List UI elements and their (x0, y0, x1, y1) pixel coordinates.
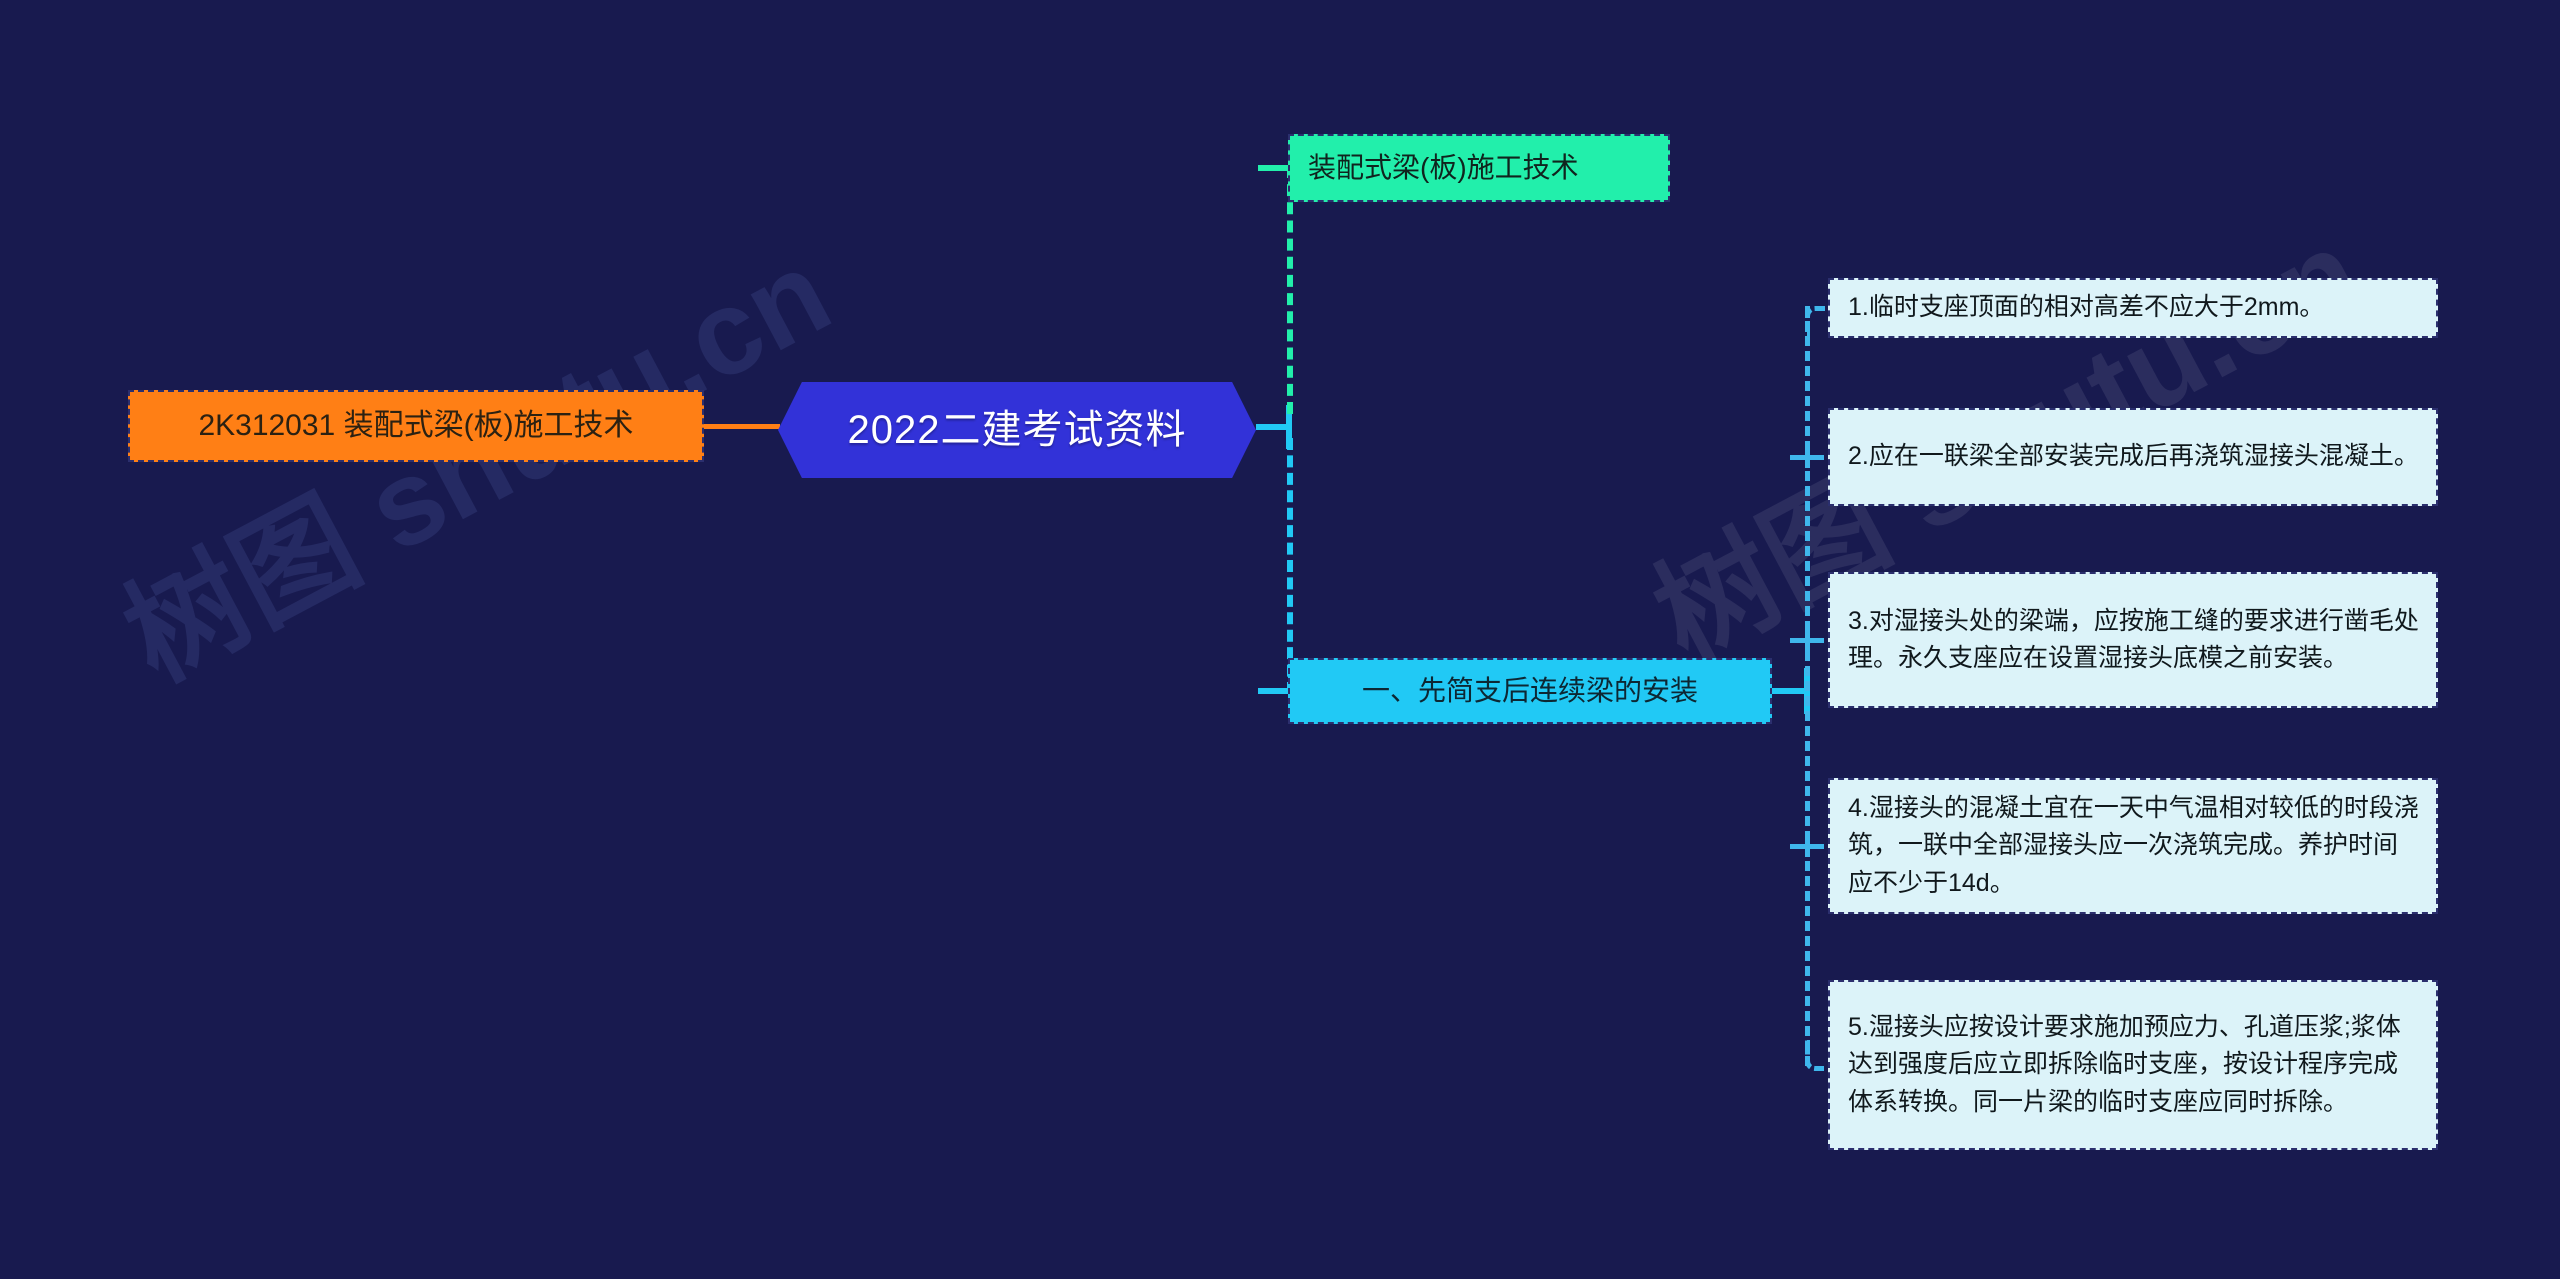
node-leaf-1-text: 1.临时支座顶面的相对高差不应大于2mm。 (1848, 289, 2324, 327)
node-leaf-5[interactable]: 5.湿接头应按设计要求施加预应力、孔道压浆;浆体达到强度后应立即拆除临时支座，按… (1828, 980, 2438, 1150)
node-leaf-5-text: 5.湿接头应按设计要求施加预应力、孔道压浆;浆体达到强度后应立即拆除临时支座，按… (1848, 1009, 2420, 1122)
node-center[interactable]: 2022二建考试资料 (778, 382, 1256, 478)
connector-center-junction (1286, 405, 1292, 449)
node-root-topic[interactable]: 2K312031 装配式梁(板)施工技术 (128, 390, 704, 462)
node-leaf-2-text: 2.应在一联梁全部安装完成后再浇筑湿接头混凝土。 (1848, 438, 2419, 476)
connector-spine-green (1287, 166, 1293, 414)
node-root-topic-label: 2K312031 装配式梁(板)施工技术 (198, 404, 633, 448)
node-branch-cyan[interactable]: 一、先简支后连续梁的安装 (1288, 658, 1772, 724)
node-leaf-4[interactable]: 4.湿接头的混凝土宜在一天中气温相对较低的时段浇筑，一联中全部湿接头应一次浇筑完… (1828, 778, 2438, 914)
connector-tick-leaf-4 (1805, 831, 1810, 857)
mindmap-canvas: 树图 shutu.cn 树图 shutu.cn 2K312031 装配式梁(板)… (0, 0, 2560, 1279)
connector-tick-leaf-3 (1805, 625, 1810, 651)
node-branch-green-label: 装配式梁(板)施工技术 (1308, 148, 1579, 189)
connector-root-to-center (704, 424, 780, 429)
connector-spine-cyan (1287, 438, 1293, 694)
node-leaf-1[interactable]: 1.临时支座顶面的相对高差不应大于2mm。 (1828, 278, 2438, 338)
connector-center-stub (1256, 424, 1290, 430)
node-leaf-4-text: 4.湿接头的混凝土宜在一天中气温相对较低的时段浇筑，一联中全部湿接头应一次浇筑完… (1848, 790, 2420, 903)
connector-leaf-junction (1804, 668, 1810, 714)
node-branch-cyan-label: 一、先简支后连续梁的安装 (1362, 671, 1698, 712)
connector-stub-cyan-branch (1258, 688, 1288, 694)
node-branch-green[interactable]: 装配式梁(板)施工技术 (1288, 134, 1670, 202)
node-center-label: 2022二建考试资料 (848, 401, 1187, 459)
node-leaf-3[interactable]: 3.对湿接头处的梁端，应按施工缝的要求进行凿毛处理。永久支座应在设置湿接头底模之… (1828, 572, 2438, 708)
node-leaf-2[interactable]: 2.应在一联梁全部安装完成后再浇筑湿接头混凝土。 (1828, 408, 2438, 506)
connector-spine-leaves (1805, 306, 1810, 1066)
connector-tick-leaf-2 (1805, 442, 1810, 468)
node-leaf-3-text: 3.对湿接头处的梁端，应按施工缝的要求进行凿毛处理。永久支座应在设置湿接头底模之… (1848, 603, 2420, 678)
connector-cyan-branch-out (1772, 688, 1808, 694)
connector-stub-green-branch (1258, 165, 1288, 171)
